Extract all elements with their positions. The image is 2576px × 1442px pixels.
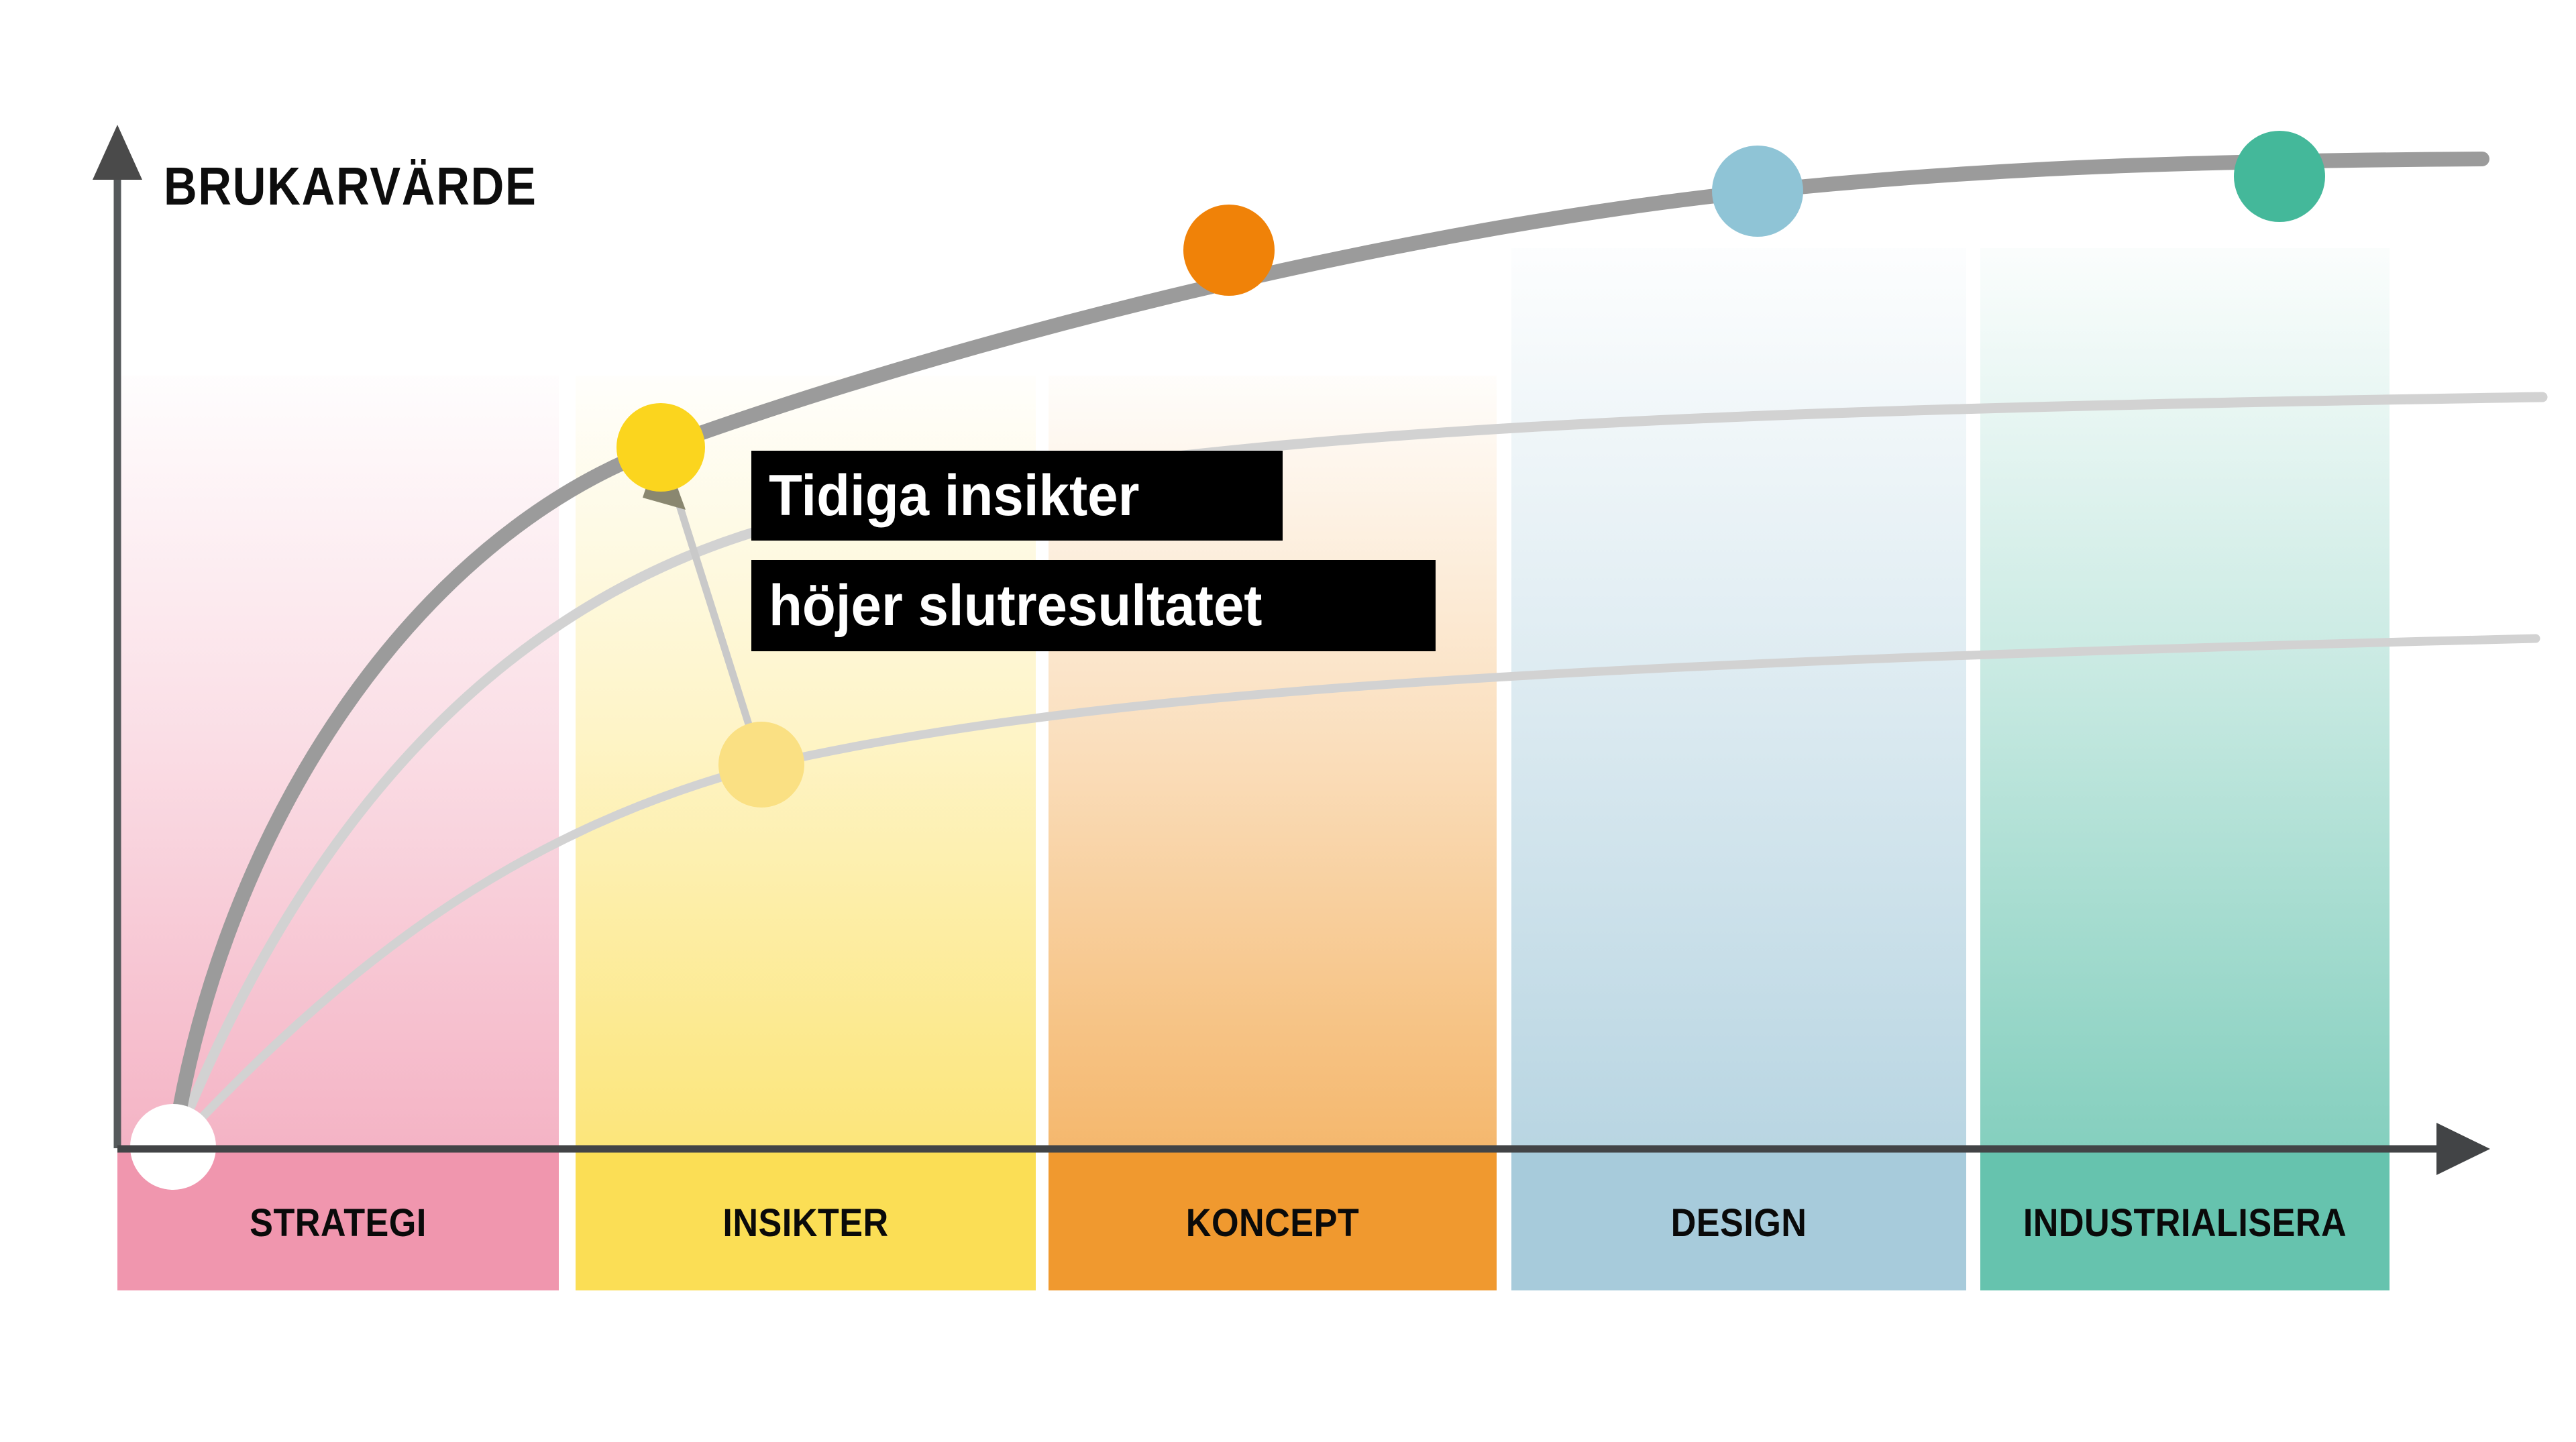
band-gradient-industrialisera [1980,248,2390,1148]
marker-insikter-faded[interactable] [718,722,804,808]
diagram-canvas: BRUKARVÄRDE STRATEGI INSIKTER KONCEPT DE… [0,0,2576,1442]
callout-line-2-text: höjer slutresultatet [769,577,1262,634]
band-gradient-strategi [117,376,559,1148]
stage-label-insikter: INSIKTER [598,1201,1012,1245]
marker-koncept[interactable] [1183,205,1275,296]
marker-insikter[interactable] [616,403,705,492]
marker-industrialisera[interactable] [2234,131,2325,222]
x-axis-arrow-icon [2436,1123,2490,1175]
stage-label-design: DESIGN [1534,1201,1943,1245]
stage-label-industrialisera: INDUSTRIALISERA [2001,1201,2369,1245]
y-axis-arrow-icon [93,125,142,180]
callout-line-1-text: Tidiga insikter [769,467,1139,524]
stage-label-koncept: KONCEPT [1071,1201,1474,1245]
band-gradient-design [1511,248,1966,1148]
callout-line-2: höjer slutresultatet [751,560,1436,651]
page-title: BRUKARVÄRDE [164,156,537,217]
stage-label-strategi: STRATEGI [140,1201,537,1245]
callout-line-1: Tidiga insikter [751,451,1283,541]
marker-design[interactable] [1712,146,1803,237]
